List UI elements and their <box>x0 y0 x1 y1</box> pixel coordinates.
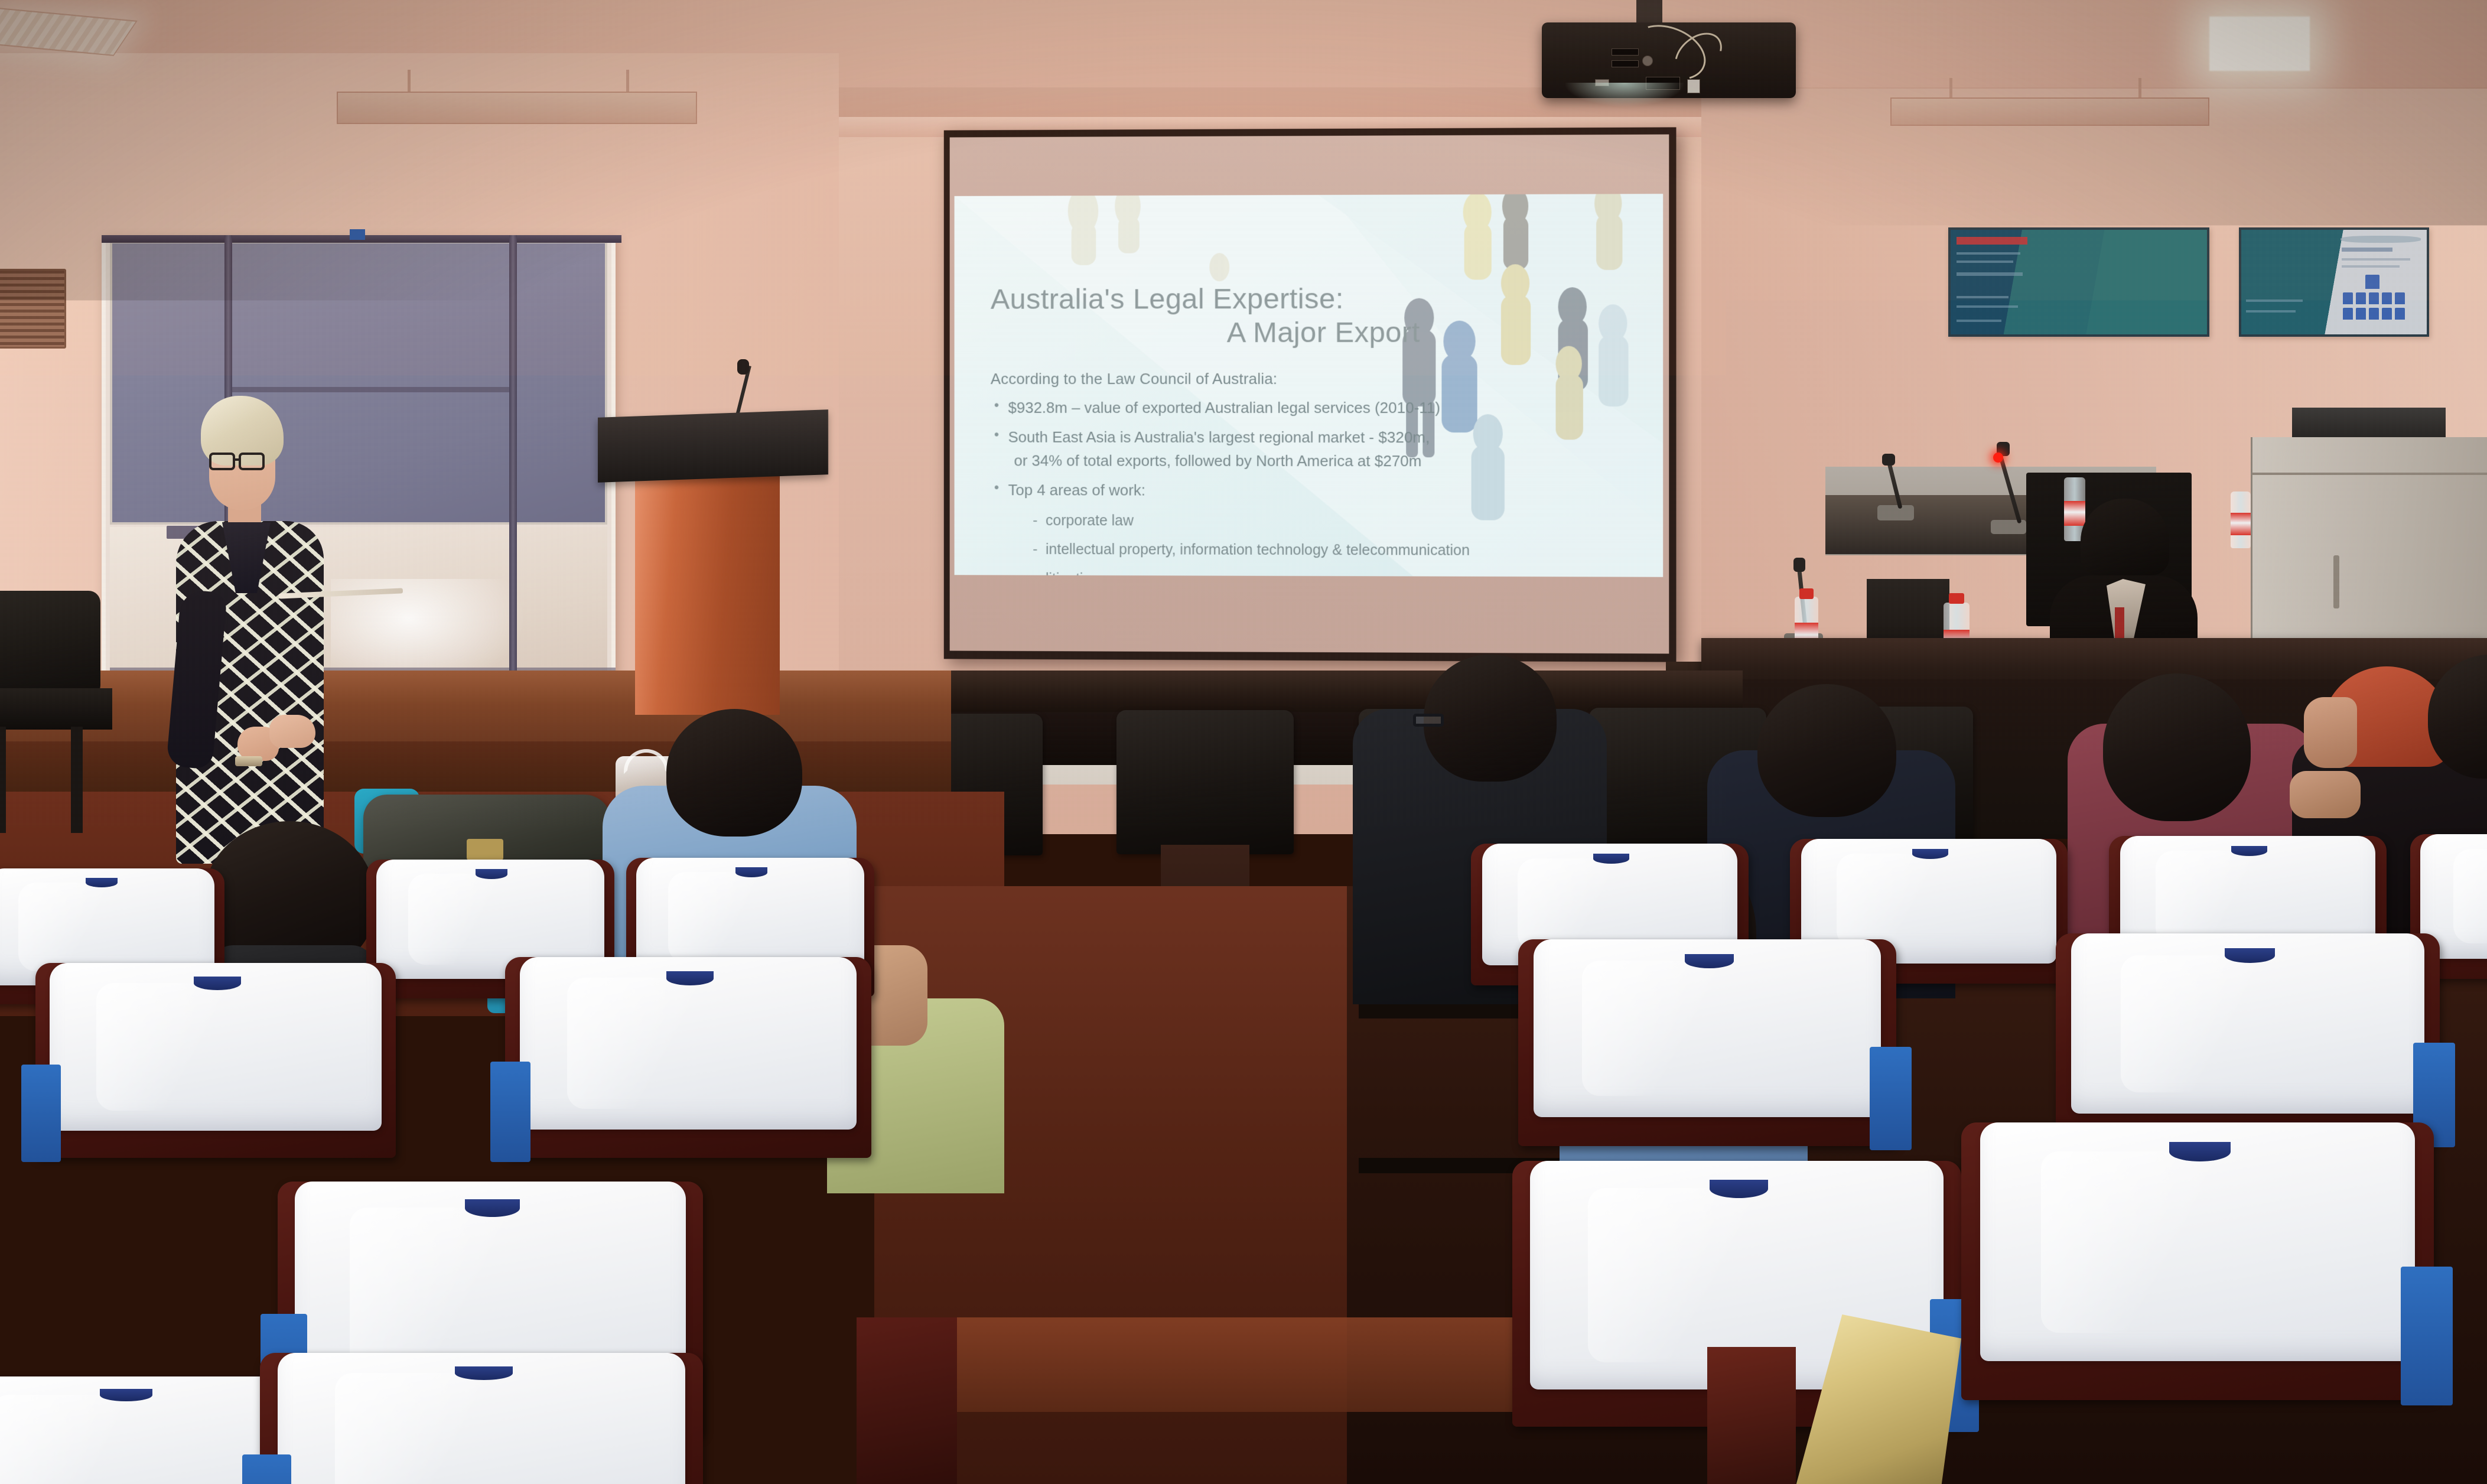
eyeglasses <box>1413 714 1444 727</box>
seat-handle-cutout <box>2225 948 2275 963</box>
leather-chair[interactable] <box>1116 710 1294 854</box>
side-chair-seat <box>0 688 112 730</box>
seat-side-panel <box>21 1065 61 1162</box>
slide-bullet-text: Top 4 areas of work: <box>1008 481 1145 499</box>
slide-lead-in: According to the Law Council of Australi… <box>991 369 1639 388</box>
seat-handle-cutout <box>100 1389 152 1401</box>
seat-side-panel <box>242 1454 291 1484</box>
presenter-hand-right <box>269 715 315 748</box>
poster-text-line <box>1957 305 2018 308</box>
board-middle-rail <box>230 387 514 392</box>
panelist-hair <box>2081 499 2169 575</box>
microphone-capsule <box>1882 454 1895 466</box>
side-chair-leg <box>0 727 6 833</box>
auditorium-seat[interactable] <box>35 963 396 1158</box>
poster-figure-icon <box>2395 292 2405 304</box>
poster-text-line <box>1957 296 2009 298</box>
slide-title: Australia's Legal Expertise: A Major Exp… <box>991 282 1639 350</box>
seat-handle-cutout <box>117 1210 171 1228</box>
light-hanger-rod <box>408 70 411 95</box>
lecture-hall-photograph: Australia's Legal Expertise: A Major Exp… <box>0 0 2487 1484</box>
poster-text-line <box>1957 261 2013 263</box>
side-chair-back[interactable] <box>0 591 100 697</box>
poster-figure-icon <box>2382 308 2392 320</box>
seat-side-panel <box>490 1062 530 1162</box>
seat-handle-cutout <box>666 971 714 985</box>
auditorium-seat[interactable] <box>2056 933 2440 1143</box>
audience-head <box>666 709 802 837</box>
poster-figure-icon <box>2382 292 2392 304</box>
projected-slide: Australia's Legal Expertise: A Major Exp… <box>955 194 1664 577</box>
ceiling-light-panel-right <box>2209 17 2310 71</box>
lectern-body <box>635 473 780 715</box>
audience-head <box>1757 684 1896 817</box>
slide-bullet: South East Asia is Australia's largest r… <box>991 426 1639 473</box>
auditorium-seat[interactable] <box>1518 939 1896 1146</box>
poster-figure-icon <box>2395 308 2405 320</box>
poster-figure-icon <box>2343 308 2353 320</box>
poster-figure-icon <box>2343 292 2353 304</box>
board-clip <box>350 229 365 240</box>
water-bottle <box>2231 492 2251 548</box>
eyeglasses-left-lens <box>209 453 235 470</box>
cabinet-handle <box>2333 555 2339 608</box>
poster-figure-icon <box>2369 308 2379 320</box>
poster-text-line <box>1957 252 2020 255</box>
side-chair-leg <box>71 727 83 833</box>
audience-head <box>2103 673 2251 821</box>
slide-bullet-text: South East Asia is Australia's largest r… <box>1008 428 1430 446</box>
bottle-cap <box>1799 588 1814 599</box>
auditorium-seat[interactable] <box>505 957 871 1158</box>
seat-handle-cutout <box>1593 854 1629 864</box>
seat-handle-cutout <box>455 1366 513 1380</box>
projection-screen: Australia's Legal Expertise: A Major Exp… <box>944 127 1677 662</box>
wall-poster-right <box>2239 227 2429 337</box>
slide-sub-item: intellectual property, information techn… <box>1033 539 1639 562</box>
lectern-top <box>598 409 828 483</box>
seat-row-divider <box>857 1317 957 1484</box>
seat-handle-cutout <box>1710 1180 1768 1199</box>
audience-hand <box>2290 771 2361 818</box>
slide-sub-list: corporate law intellectual property, inf… <box>1008 510 1639 577</box>
poster-text-line <box>1957 272 2023 276</box>
suspended-light-fixture-left <box>337 92 697 124</box>
microphone-capsule <box>1793 558 1805 572</box>
seat-handle-cutout <box>194 977 240 990</box>
backpack-tag <box>467 839 503 860</box>
poster-figure-icon <box>2369 292 2379 304</box>
projector-lens-glow <box>1565 83 1684 106</box>
slide-bullet-list: $932.8m – value of exported Australian l… <box>991 396 1639 577</box>
poster-text-line <box>2246 310 2296 313</box>
seat-handle-cutout <box>476 869 508 878</box>
light-hanger-rod <box>626 70 629 95</box>
cabinet-seam <box>2252 473 2487 475</box>
slide-bullet: Top 4 areas of work: corporate law intel… <box>991 479 1639 577</box>
slide-bullet-continuation: or 34% of total exports, followed by Nor… <box>1008 449 1639 473</box>
poster-text-line <box>1957 320 2001 322</box>
seat-side-panel <box>1870 1047 1911 1150</box>
wall-poster-left <box>1948 227 2209 337</box>
poster-figure-icon <box>2365 275 2379 289</box>
audience-face-profile <box>2304 697 2357 768</box>
poster-figure-icon <box>2356 308 2366 320</box>
poster-header-bar <box>1957 237 2027 245</box>
seat-row-divider <box>1707 1347 1796 1484</box>
slide-title-line-1: Australia's Legal Expertise: <box>991 283 1344 315</box>
stage-platform <box>0 671 951 747</box>
poster-banner <box>2340 236 2421 243</box>
air-vent-upper <box>0 269 66 349</box>
aisle-highlight <box>957 1317 1536 1412</box>
poster-heading <box>2342 248 2392 252</box>
bottle-label <box>2231 513 2251 535</box>
eyeglasses-right-lens <box>239 453 265 470</box>
auditorium-seat[interactable] <box>260 1353 703 1484</box>
microphone-base <box>1877 505 1914 520</box>
poster-text-line <box>2342 258 2410 261</box>
microphone-active-led <box>1993 453 2003 463</box>
slide-title-line-2: A Major Export <box>991 315 1639 350</box>
eyeglasses-bridge <box>235 458 240 461</box>
slide-bullet-text: $932.8m – value of exported Australian l… <box>1008 399 1441 416</box>
seat-handle-cutout <box>1685 954 1734 969</box>
lectern-microphone-capsule <box>737 359 749 375</box>
poster-text-line <box>2342 265 2400 268</box>
bottle-cap <box>1949 593 1964 604</box>
auditorium-seat[interactable] <box>1961 1122 2434 1400</box>
slide-bullet: $932.8m – value of exported Australian l… <box>991 396 1639 420</box>
suspended-light-fixture-right <box>1890 97 2209 126</box>
seat-handle-cutout <box>2169 1142 2231 1161</box>
presenter-wristwatch <box>235 756 262 766</box>
light-hanger-rod <box>1949 78 1952 99</box>
presenter-person <box>165 396 360 863</box>
poster-text-line <box>2246 300 2303 302</box>
board-post-right <box>509 235 517 715</box>
light-hanger-rod <box>2138 78 2141 99</box>
slide-sub-item: corporate law <box>1033 510 1639 533</box>
seat-side-panel <box>2401 1267 2453 1405</box>
poster-figure-icon <box>2356 292 2366 304</box>
slide-text-block: Australia's Legal Expertise: A Major Exp… <box>955 194 1664 577</box>
projector-usb-port <box>1687 79 1700 93</box>
seat-handle-cutout <box>735 867 768 877</box>
projector-port <box>1612 60 1639 67</box>
